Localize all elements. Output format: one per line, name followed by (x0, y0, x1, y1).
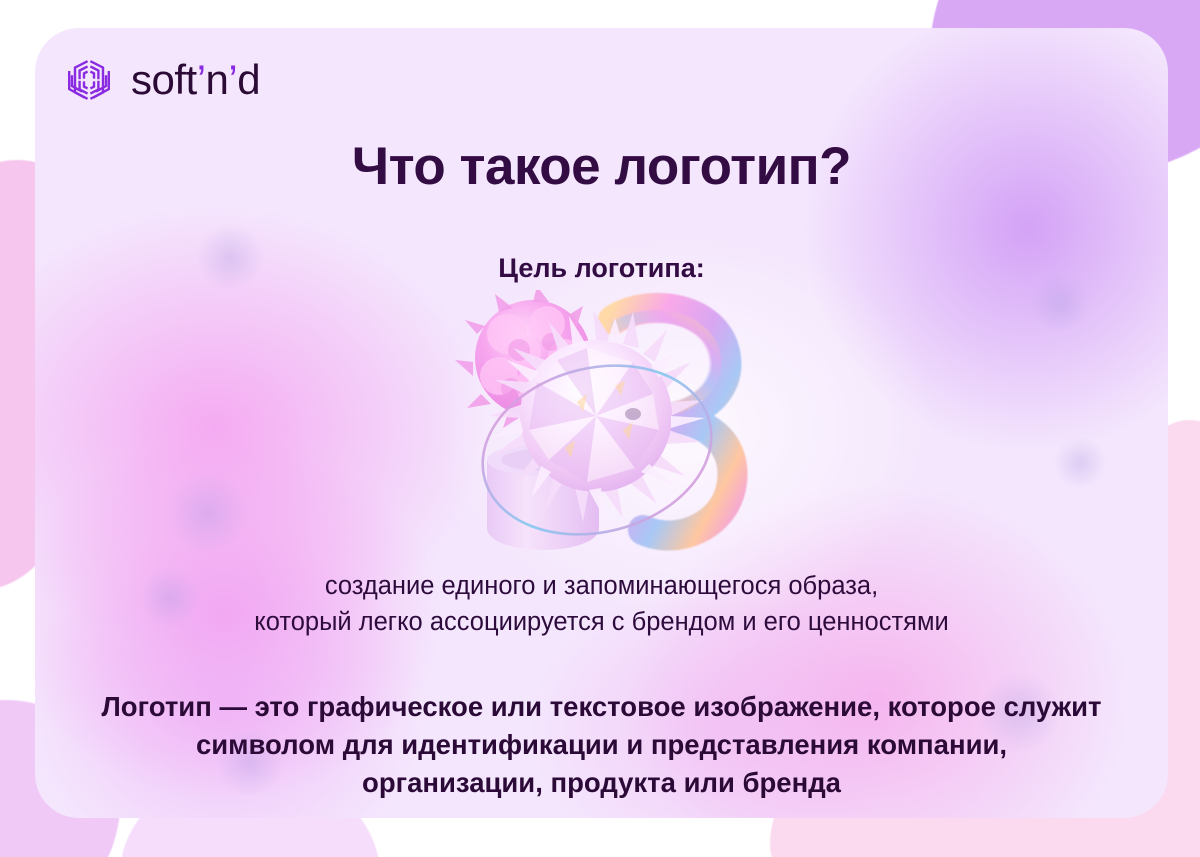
brand-word-n: n (206, 56, 229, 103)
definition-text: Логотип — это графическое или текстовое … (35, 688, 1168, 802)
brand-apostrophe-1: ’ (197, 56, 206, 103)
abstract-3d-artwork (437, 290, 767, 565)
hex-chevron-logo-icon (63, 54, 115, 106)
purpose-line-2: который легко ассоциируется с брендом и … (35, 604, 1168, 640)
purpose-body-text: создание единого и запоминающегося образ… (35, 568, 1168, 640)
brand-apostrophe-2: ’ (228, 56, 237, 103)
brand-word-soft: soft (131, 56, 197, 103)
brand-word-d: d (237, 56, 260, 103)
definition-line-1: Логотип — это графическое или текстовое … (57, 688, 1146, 726)
slide-canvas: soft’n’d Что такое логотип? Цель логотип… (0, 0, 1200, 857)
brand-lockup[interactable]: soft’n’d (63, 54, 260, 106)
brand-wordmark: soft’n’d (131, 59, 260, 101)
slide-title: Что такое логотип? (35, 136, 1168, 197)
purpose-line-1: создание единого и запоминающегося образ… (35, 568, 1168, 604)
slide-card: soft’n’d Что такое логотип? Цель логотип… (35, 28, 1168, 818)
slide-subtitle: Цель логотипа: (35, 253, 1168, 284)
slide-content: soft’n’d Что такое логотип? Цель логотип… (35, 28, 1168, 818)
definition-line-3: организации, продукта или бренда (57, 764, 1146, 802)
definition-line-2: символом для идентификации и представлен… (57, 726, 1146, 764)
